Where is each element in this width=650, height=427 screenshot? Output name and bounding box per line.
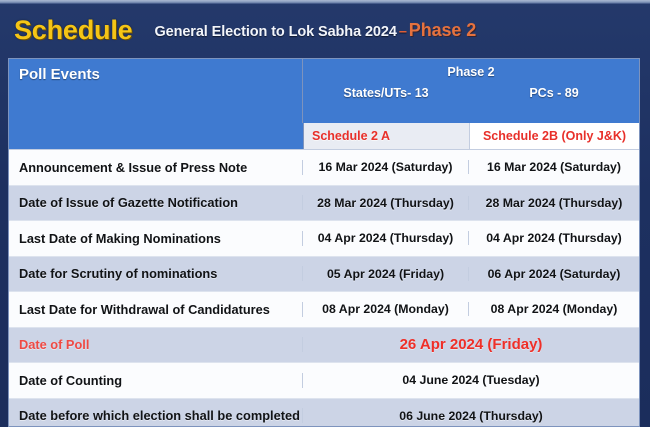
schedule-label-2b: Schedule 2B (Only J&K) [470,123,639,149]
schedule-table: Poll Events Phase 2 States/UTs- 13 PCs -… [8,58,640,427]
table-header-row: Poll Events Phase 2 States/UTs- 13 PCs -… [9,59,639,123]
cell-schedule-2a: 16 Mar 2024 (Saturday) [303,160,469,174]
subtitle-phase-label: Phase 2 [409,20,476,40]
table-row: Date of Poll26 Apr 2024 (Friday) [9,328,639,364]
cell-schedule-2b: 28 Mar 2024 (Thursday) [469,196,639,210]
cell-poll-event: Announcement & Issue of Press Note [9,160,303,175]
column-subheader-row: States/UTs- 13 PCs - 89 [303,79,639,100]
column-header-phase-group: Phase 2 States/UTs- 13 PCs - 89 [303,59,639,123]
cell-schedule-2a: 28 Mar 2024 (Thursday) [303,196,469,210]
cell-schedule-2b: 08 Apr 2024 (Monday) [469,302,639,316]
cell-schedule-2b: 04 Apr 2024 (Thursday) [469,231,639,245]
poster-title-bar: Schedule General Election to Lok Sabha 2… [0,4,650,56]
table-row: Last Date for Withdrawal of Candidatures… [9,292,639,328]
page-title: Schedule [14,17,132,44]
cell-schedule-2a: 05 Apr 2024 (Friday) [303,267,469,281]
cell-date-merged: 04 June 2024 (Tuesday) [303,373,639,387]
subtitle-dash: – [397,24,409,40]
cell-poll-event: Date before which election shall be comp… [9,408,303,423]
cell-poll-event: Date of Poll [9,337,303,352]
cell-poll-event: Last Date for Withdrawal of Candidatures [9,302,303,317]
table-row: Date for Scrutiny of nominations05 Apr 2… [9,257,639,293]
poster-subtitle: General Election to Lok Sabha 2024–Phase… [154,21,476,40]
cell-schedule-2a: 08 Apr 2024 (Monday) [303,302,469,316]
cell-schedule-2a: 04 Apr 2024 (Thursday) [303,231,469,245]
schedule-label-2a: Schedule 2 A [304,123,470,149]
column-subheader-states: States/UTs- 13 [303,86,469,100]
table-row: Announcement & Issue of Press Note16 Mar… [9,150,639,186]
table-row: Date of Issue of Gazette Notification28 … [9,186,639,222]
schedule-band-spacer [9,123,304,149]
schedule-label-band: Schedule 2 A Schedule 2B (Only J&K) [9,123,639,150]
cell-schedule-2b: 06 Apr 2024 (Saturday) [469,267,639,281]
subtitle-text: General Election to Lok Sabha 2024 [154,24,396,40]
table-row: Last Date of Making Nominations04 Apr 20… [9,221,639,257]
cell-schedule-2b: 16 Mar 2024 (Saturday) [469,160,639,174]
cell-poll-event: Date for Scrutiny of nominations [9,266,303,281]
column-header-poll-events: Poll Events [9,59,303,123]
cell-poll-event: Last Date of Making Nominations [9,231,303,246]
schedule-poster: Schedule General Election to Lok Sabha 2… [0,0,650,427]
cell-date-merged: 26 Apr 2024 (Friday) [303,336,639,353]
table-row: Date of Counting04 June 2024 (Tuesday) [9,363,639,399]
cell-poll-event: Date of Counting [9,373,303,388]
column-header-phase: Phase 2 [303,59,639,79]
cell-date-merged: 06 June 2024 (Thursday) [303,409,639,423]
table-body: Announcement & Issue of Press Note16 Mar… [9,150,639,427]
table-row: Date before which election shall be comp… [9,399,639,427]
column-subheader-pcs: PCs - 89 [469,86,639,100]
cell-poll-event: Date of Issue of Gazette Notification [9,195,303,210]
table-header: Poll Events Phase 2 States/UTs- 13 PCs -… [9,59,639,123]
